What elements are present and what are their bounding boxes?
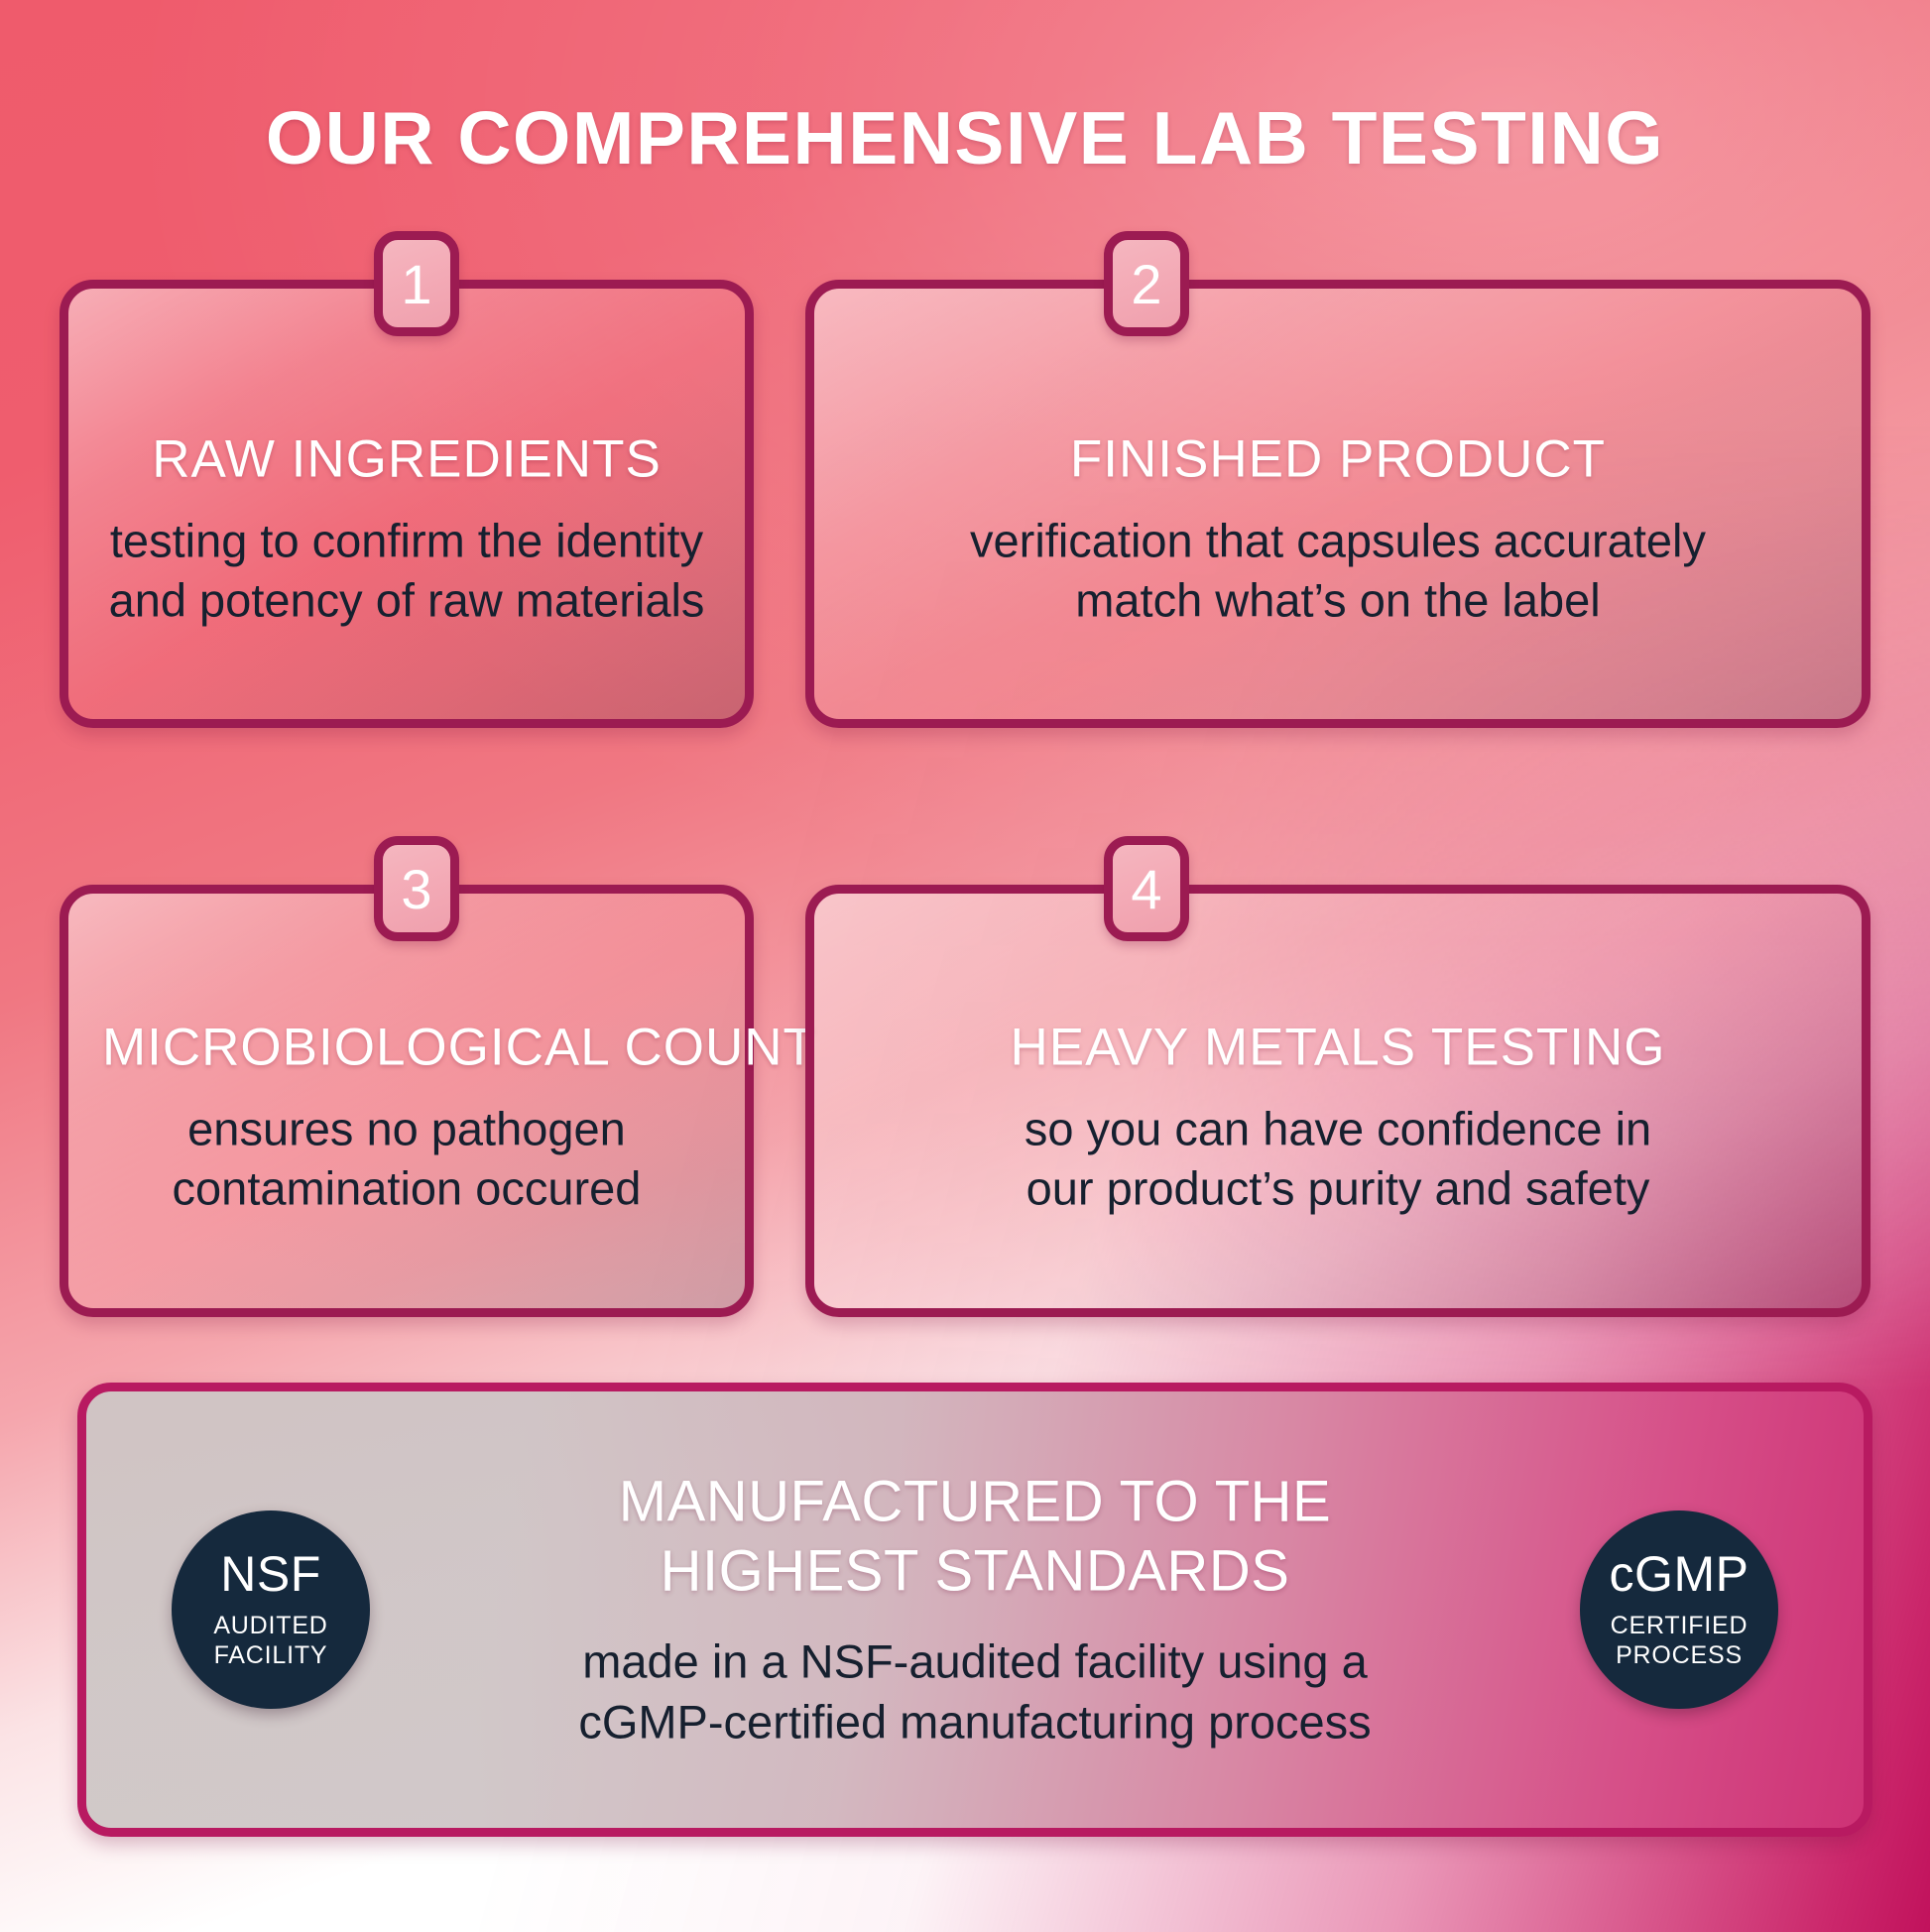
cgmp-seal-main-label: cGMP bbox=[1610, 1549, 1749, 1599]
card-number-badge-1: 1 bbox=[374, 231, 459, 336]
card-content: MICROBIOLOGICAL COUNT ensures no pathoge… bbox=[68, 1017, 745, 1218]
panel-content: MANUFACTURED TO THE HIGHEST STANDARDS ma… bbox=[463, 1467, 1487, 1751]
card-body: so you can have confidence in our produc… bbox=[848, 1099, 1828, 1218]
testing-card-microbiological-count: 3 MICROBIOLOGICAL COUNT ensures no patho… bbox=[60, 885, 754, 1317]
panel-body-line: cGMP-certified manufacturing process bbox=[463, 1692, 1487, 1752]
cgmp-seal-sub-line: CERTIFIED bbox=[1611, 1611, 1749, 1641]
card-body: ensures no pathogen contamination occure… bbox=[102, 1099, 711, 1218]
card-heading: FINISHED PRODUCT bbox=[848, 428, 1828, 489]
testing-card-heavy-metals: 4 HEAVY METALS TESTING so you can have c… bbox=[805, 885, 1870, 1317]
nsf-seal-icon: NSF AUDITED FACILITY bbox=[172, 1510, 370, 1709]
cgmp-seal-icon: cGMP CERTIFIED PROCESS bbox=[1580, 1510, 1778, 1709]
card-heading: RAW INGREDIENTS bbox=[102, 428, 711, 489]
infographic-root: OUR COMPREHENSIVE LAB TESTING 1 RAW INGR… bbox=[0, 0, 1930, 1932]
cgmp-seal-sub-label: CERTIFIED PROCESS bbox=[1611, 1611, 1749, 1671]
card-number-badge-2: 2 bbox=[1104, 231, 1189, 336]
card-body-line: ensures no pathogen bbox=[102, 1099, 711, 1158]
card-content: HEAVY METALS TESTING so you can have con… bbox=[814, 1017, 1862, 1218]
nsf-seal-sub-line: AUDITED bbox=[213, 1611, 327, 1641]
testing-card-raw-ingredients: 1 RAW INGREDIENTS testing to confirm the… bbox=[60, 280, 754, 728]
card-body: verification that capsules accurately ma… bbox=[848, 511, 1828, 630]
card-body: testing to confirm the identity and pote… bbox=[102, 511, 711, 630]
nsf-seal-sub-label: AUDITED FACILITY bbox=[213, 1611, 327, 1671]
testing-card-finished-product: 2 FINISHED PRODUCT verification that cap… bbox=[805, 280, 1870, 728]
panel-heading-line: MANUFACTURED TO THE bbox=[463, 1467, 1487, 1536]
card-body-line: verification that capsules accurately bbox=[848, 511, 1828, 570]
card-body-line: match what’s on the label bbox=[848, 571, 1828, 631]
card-content: RAW INGREDIENTS testing to confirm the i… bbox=[68, 428, 745, 630]
card-body-line: testing to confirm the identity bbox=[102, 511, 711, 570]
card-body-line: and potency of raw materials bbox=[102, 571, 711, 631]
card-number-badge-3: 3 bbox=[374, 836, 459, 941]
panel-heading-line: HIGHEST STANDARDS bbox=[463, 1536, 1487, 1606]
card-number-badge-4: 4 bbox=[1104, 836, 1189, 941]
manufacturing-standards-panel: NSF AUDITED FACILITY MANUFACTURED TO THE… bbox=[77, 1383, 1872, 1837]
card-body-line: so you can have confidence in bbox=[848, 1099, 1828, 1158]
card-body-line: contamination occured bbox=[102, 1158, 711, 1218]
page-title: OUR COMPREHENSIVE LAB TESTING bbox=[0, 95, 1930, 181]
nsf-seal-sub-line: FACILITY bbox=[213, 1640, 327, 1671]
panel-heading: MANUFACTURED TO THE HIGHEST STANDARDS bbox=[463, 1467, 1487, 1605]
panel-body-line: made in a NSF-audited facility using a bbox=[463, 1631, 1487, 1692]
card-content: FINISHED PRODUCT verification that capsu… bbox=[814, 428, 1862, 630]
card-heading: MICROBIOLOGICAL COUNT bbox=[102, 1017, 711, 1077]
nsf-seal-main-label: NSF bbox=[220, 1549, 321, 1599]
cgmp-seal-sub-line: PROCESS bbox=[1611, 1640, 1749, 1671]
card-body-line: our product’s purity and safety bbox=[848, 1158, 1828, 1218]
card-heading: HEAVY METALS TESTING bbox=[848, 1017, 1828, 1077]
panel-body: made in a NSF-audited facility using a c… bbox=[463, 1631, 1487, 1752]
